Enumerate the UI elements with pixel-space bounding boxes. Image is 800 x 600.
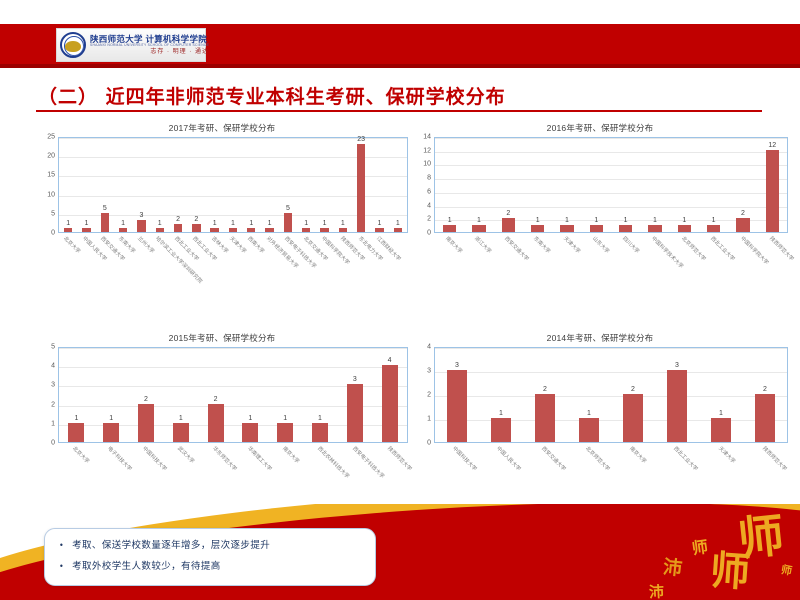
bar-slot: 1 <box>611 138 640 232</box>
x-axis-tick-label: 西北工业大学 <box>709 235 736 262</box>
bar-value-label: 3 <box>655 362 699 369</box>
bar-slot: 3 <box>132 138 150 232</box>
bar-value-label: 5 <box>279 205 297 212</box>
bar <box>667 370 687 442</box>
y-axis-tick: 12 <box>423 147 431 154</box>
bar-series: 31212312 <box>435 348 787 442</box>
bar-slot: 2 <box>169 138 187 232</box>
bar <box>736 218 749 232</box>
y-axis-tick: 10 <box>423 161 431 168</box>
bar <box>502 218 515 232</box>
bar <box>210 228 218 232</box>
bar-slot: 1 <box>699 348 743 442</box>
bar-slot: 23 <box>352 138 370 232</box>
bar-value-label: 23 <box>352 136 370 143</box>
x-axis-tick-label: 西北农林科技大学 <box>316 445 351 480</box>
y-axis-tick: 3 <box>427 368 431 375</box>
chart-2015: 2015年考研、保研学校分布0123451121211134北京大学电子科技大学… <box>36 332 408 532</box>
bar-value-label: 2 <box>743 386 787 393</box>
bar <box>678 225 691 232</box>
bar-value-label: 1 <box>303 415 338 422</box>
x-axis-tick-label: 南京大学 <box>444 235 464 255</box>
bar-slot: 3 <box>337 348 372 442</box>
calligraphy-glyph-4: 沛 <box>662 558 683 579</box>
bar-slot: 1 <box>567 348 611 442</box>
x-axis-labels: 北京大学中国人民大学西安交通大学东南大学兰州大学哈尔滨工业大学深圳研究院西北工业… <box>58 233 408 305</box>
y-axis-tick: 5 <box>51 344 55 351</box>
bar-value-label: 1 <box>114 220 132 227</box>
y-axis: 02468101214 <box>412 137 434 233</box>
slide-title: （二） 近四年非师范专业本科生考研、保研学校分布 <box>38 82 506 109</box>
bar <box>101 213 109 232</box>
bar <box>347 384 363 442</box>
bar-value-label: 3 <box>132 212 150 219</box>
x-axis-tick-label: 北京师范大学 <box>680 235 707 262</box>
bar-value-label: 1 <box>163 415 198 422</box>
bar-slot: 1 <box>242 138 260 232</box>
bar <box>192 224 200 232</box>
x-axis-tick-label: 华南理工大学 <box>246 445 273 472</box>
bar-value-label: 1 <box>699 410 743 417</box>
bar-slot: 5 <box>279 138 297 232</box>
y-axis-tick: 3 <box>51 382 55 389</box>
bar-value-label: 2 <box>611 386 655 393</box>
y-axis-tick: 0 <box>427 440 431 447</box>
bar-value-label: 1 <box>389 220 407 227</box>
x-axis-tick-label: 浙江大学 <box>473 235 493 255</box>
calligraphy-glyph-6: 师 <box>780 564 793 577</box>
bar-value-label: 2 <box>187 216 205 223</box>
bar-slot: 2 <box>129 348 164 442</box>
bar-slot: 1 <box>464 138 493 232</box>
bar <box>711 418 731 442</box>
x-axis-tick-label: 山东大学 <box>591 235 611 255</box>
x-axis-tick-label: 北京师范大学 <box>584 445 611 472</box>
bar-slot: 5 <box>96 138 114 232</box>
bar-slot: 2 <box>187 138 205 232</box>
y-axis-tick: 10 <box>47 191 55 198</box>
bar-slot: 1 <box>670 138 699 232</box>
x-axis-tick-label: 西安交通大学 <box>540 445 567 472</box>
calligraphy-glyph-5: 沛 <box>649 585 665 600</box>
y-axis-tick: 15 <box>47 172 55 179</box>
x-axis-tick-label: 北京大学 <box>71 445 91 465</box>
bar-value-label: 1 <box>552 217 581 224</box>
chart-2016: 2016年考研、保研学校分布024681012141121111111212南京… <box>412 122 788 327</box>
bar-value-label: 1 <box>94 415 129 422</box>
x-axis-tick-label: 西北工业大学 <box>672 445 699 472</box>
bar-value-label: 1 <box>77 220 95 227</box>
x-axis-tick-label: 陕西师范大学 <box>386 445 413 472</box>
x-axis-tick-label: 南京大学 <box>281 445 301 465</box>
charts-grid: 2017年考研、保研学校分布05101520251151312211115111… <box>0 122 800 532</box>
bar-value-label: 1 <box>59 415 94 422</box>
x-axis-labels: 北京大学电子科技大学中国科技大学武汉大学华东师范大学华南理工大学南京大学西北农林… <box>58 443 408 515</box>
bar-value-label: 1 <box>567 410 611 417</box>
bar-value-label: 1 <box>479 410 523 417</box>
bar-slot: 1 <box>163 348 198 442</box>
header-band-shadow <box>0 64 800 68</box>
bar-slot: 1 <box>114 138 132 232</box>
bar-value-label: 2 <box>494 210 523 217</box>
bar <box>766 150 779 232</box>
bar <box>174 224 182 232</box>
x-axis-tick-label: 武汉大学 <box>176 445 196 465</box>
title-underline <box>36 110 762 112</box>
bar-slot: 12 <box>758 138 787 232</box>
chart-title: 2016年考研、保研学校分布 <box>412 122 788 134</box>
x-axis-tick-label: 中国科学院大学 <box>739 235 770 266</box>
bar-value-label: 3 <box>337 376 372 383</box>
bar-value-label: 2 <box>129 396 164 403</box>
bar-slot: 2 <box>523 348 567 442</box>
bar-slot: 1 <box>389 138 407 232</box>
bar-slot: 1 <box>59 348 94 442</box>
bar-series: 1121111111212 <box>435 138 787 232</box>
bar-value-label: 1 <box>611 217 640 224</box>
bar <box>208 404 224 442</box>
bar <box>64 228 72 232</box>
plot-area: 0123431212312 <box>412 347 788 443</box>
bar-slot: 1 <box>552 138 581 232</box>
bar <box>394 228 402 232</box>
bar <box>491 418 511 442</box>
bar-slot: 1 <box>479 348 523 442</box>
bar-slot: 2 <box>198 348 233 442</box>
bar-slot: 1 <box>303 348 338 442</box>
x-axis-tick-label: 天津大学 <box>717 445 737 465</box>
y-axis-tick: 4 <box>427 202 431 209</box>
bar-value-label: 1 <box>464 217 493 224</box>
x-axis-tick-label: 陕西师范大学 <box>761 445 788 472</box>
x-axis-labels: 中国科技大学中国人民大学西安交通大学北京师范大学南京大学西北工业大学天津大学陕西… <box>434 443 788 515</box>
bar <box>443 225 456 232</box>
chart-title: 2017年考研、保研学校分布 <box>36 122 408 134</box>
bar <box>648 225 661 232</box>
bar <box>375 228 383 232</box>
bar-value-label: 1 <box>315 220 333 227</box>
bar <box>247 228 255 232</box>
bar-value-label: 1 <box>582 217 611 224</box>
plot-canvas: 1121211134 <box>58 347 408 443</box>
bar-value-label: 4 <box>372 357 407 364</box>
y-axis: 012345 <box>36 347 58 443</box>
bar <box>103 423 119 442</box>
y-axis: 01234 <box>412 347 434 443</box>
bar-value-label: 1 <box>59 220 77 227</box>
bar <box>173 423 189 442</box>
bar-value-label: 1 <box>297 220 315 227</box>
bar <box>707 225 720 232</box>
bar <box>119 228 127 232</box>
bullet-icon: • <box>59 541 64 550</box>
y-axis-tick: 4 <box>51 363 55 370</box>
callout-item: • 考取、保送学校数量逐年增多，层次逐步提升 <box>59 537 365 551</box>
bar-slot: 4 <box>372 348 407 442</box>
university-seal-icon <box>60 32 86 58</box>
bar-value-label: 1 <box>370 220 388 227</box>
chart-2017: 2017年考研、保研学校分布05101520251151312211115111… <box>36 122 408 327</box>
bar-slot: 1 <box>260 138 278 232</box>
bar-value-label: 1 <box>268 415 303 422</box>
bar-value-label: 2 <box>523 386 567 393</box>
x-axis-tick-label: 陕西师范大学 <box>768 235 795 262</box>
bar-slot: 1 <box>77 138 95 232</box>
y-axis-tick: 25 <box>47 134 55 141</box>
bar-slot: 1 <box>523 138 552 232</box>
bar-slot: 2 <box>743 348 787 442</box>
bar <box>242 423 258 442</box>
bar <box>82 228 90 232</box>
bar-value-label: 1 <box>435 217 464 224</box>
y-axis-tick: 6 <box>427 188 431 195</box>
plot-area: 024681012141121111111212 <box>412 137 788 233</box>
plot-canvas: 31212312 <box>434 347 788 443</box>
plot-canvas: 11513122111151112311 <box>58 137 408 233</box>
x-axis-tick-label: 西安交通大学 <box>503 235 530 262</box>
bar <box>755 394 775 442</box>
bar <box>302 228 310 232</box>
bar <box>579 418 599 442</box>
bar-slot: 2 <box>494 138 523 232</box>
x-axis-tick-label: 中国科技大学 <box>451 445 478 472</box>
bar <box>68 423 84 442</box>
bar <box>560 225 573 232</box>
bar <box>472 225 485 232</box>
bar <box>339 228 347 232</box>
x-axis-tick-label: 东南大学 <box>532 235 552 255</box>
university-logo: 陕西师范大学 计算机科学学院 SHAANXI NORMAL UNIVERSITY… <box>56 28 206 62</box>
bar-value-label: 2 <box>728 210 757 217</box>
calligraphy-glyph-2: 师 <box>709 551 752 594</box>
bar-series: 11513122111151112311 <box>59 138 407 232</box>
bar-slot: 1 <box>582 138 611 232</box>
bar-slot: 1 <box>297 138 315 232</box>
bar-slot: 1 <box>233 348 268 442</box>
x-axis-tick-label: 华东师范大学 <box>211 445 238 472</box>
y-axis-tick: 14 <box>423 134 431 141</box>
bar-value-label: 1 <box>640 217 669 224</box>
summary-callout: • 考取、保送学校数量逐年增多，层次逐步提升 • 考取外校学生人数较少，有待提高 <box>44 528 376 586</box>
bar <box>312 423 328 442</box>
bar-value-label: 1 <box>242 220 260 227</box>
bar-value-label: 12 <box>758 142 787 149</box>
bar <box>137 220 145 232</box>
x-axis-tick-label: 南京大学 <box>628 445 648 465</box>
x-axis-tick-label: 西安电子科技大学 <box>351 445 386 480</box>
y-axis-tick: 0 <box>427 230 431 237</box>
x-axis-tick-label: 四川大学 <box>621 235 641 255</box>
bar-value-label: 2 <box>169 216 187 223</box>
y-axis-tick: 20 <box>47 153 55 160</box>
bar <box>590 225 603 232</box>
bar <box>531 225 544 232</box>
bar <box>229 228 237 232</box>
y-axis-tick: 0 <box>51 440 55 447</box>
y-axis-tick: 5 <box>51 210 55 217</box>
bar-value-label: 1 <box>206 220 224 227</box>
bar-slot: 1 <box>334 138 352 232</box>
bar-value-label: 1 <box>224 220 242 227</box>
y-axis-tick: 2 <box>51 401 55 408</box>
y-axis: 0510152025 <box>36 137 58 233</box>
bar-value-label: 1 <box>260 220 278 227</box>
y-axis-tick: 8 <box>427 175 431 182</box>
bar-slot: 1 <box>94 348 129 442</box>
callout-text: 考取外校学生人数较少，有待提高 <box>72 558 221 572</box>
y-axis-tick: 2 <box>427 392 431 399</box>
bar-slot: 1 <box>206 138 224 232</box>
bar-slot: 2 <box>728 138 757 232</box>
bar-value-label: 2 <box>198 396 233 403</box>
bar-slot: 1 <box>151 138 169 232</box>
bar-series: 1121211134 <box>59 348 407 442</box>
bar <box>535 394 555 442</box>
bar-value-label: 1 <box>334 220 352 227</box>
bar <box>619 225 632 232</box>
bar-value-label: 5 <box>96 205 114 212</box>
bullet-icon: • <box>59 562 64 571</box>
bar <box>320 228 328 232</box>
chart-title: 2015年考研、保研学校分布 <box>36 332 408 344</box>
bar-value-label: 1 <box>699 217 728 224</box>
bar-slot: 1 <box>224 138 242 232</box>
bar-slot: 1 <box>315 138 333 232</box>
x-axis-tick-label: 北京大学 <box>62 235 82 255</box>
calligraphy-glyph-3: 师 <box>691 539 709 557</box>
bar <box>265 228 273 232</box>
bar-value-label: 1 <box>670 217 699 224</box>
x-axis-tick-label: 西南大学 <box>246 235 266 255</box>
bar <box>357 144 365 232</box>
bar <box>138 404 154 442</box>
y-axis-tick: 0 <box>51 230 55 237</box>
bar-slot: 1 <box>435 138 464 232</box>
x-axis-tick-label: 中国科技大学 <box>141 445 168 472</box>
plot-canvas: 1121111111212 <box>434 137 788 233</box>
bar <box>382 365 398 442</box>
bar-value-label: 1 <box>523 217 552 224</box>
bar-slot: 1 <box>699 138 728 232</box>
bar <box>156 228 164 232</box>
x-axis-tick-label: 兰州大学 <box>136 235 156 255</box>
plot-area: 0123451121211134 <box>36 347 408 443</box>
logo-english-name: SHAANXI NORMAL UNIVERSITY SCHOOL OF COMP… <box>90 44 209 47</box>
bar <box>277 423 293 442</box>
chart-title: 2014年考研、保研学校分布 <box>412 332 788 344</box>
y-axis-tick: 4 <box>427 344 431 351</box>
bar <box>623 394 643 442</box>
bar-slot: 3 <box>655 348 699 442</box>
bar-slot: 3 <box>435 348 479 442</box>
callout-text: 考取、保送学校数量逐年增多，层次逐步提升 <box>72 537 270 551</box>
x-axis-labels: 南京大学浙江大学西安交通大学东南大学天津大学山东大学四川大学中国科学技术大学北京… <box>434 233 788 305</box>
callout-item: • 考取外校学生人数较少，有待提高 <box>59 558 365 572</box>
y-axis-tick: 1 <box>51 420 55 427</box>
bar-slot: 1 <box>640 138 669 232</box>
bar <box>447 370 467 442</box>
y-axis-tick: 1 <box>427 416 431 423</box>
y-axis-tick: 2 <box>427 216 431 223</box>
bar-slot: 2 <box>611 348 655 442</box>
bar-value-label: 1 <box>151 220 169 227</box>
x-axis-tick-label: 天津大学 <box>228 235 248 255</box>
bar-slot: 1 <box>370 138 388 232</box>
x-axis-tick-label: 电子科技大学 <box>106 445 133 472</box>
x-axis-tick-label: 对外经济贸易大学 <box>265 235 300 270</box>
plot-area: 051015202511513122111151112311 <box>36 137 408 233</box>
bar-slot: 1 <box>59 138 77 232</box>
bar-value-label: 1 <box>233 415 268 422</box>
x-axis-tick-label: 中国人民大学 <box>495 445 522 472</box>
bar-value-label: 3 <box>435 362 479 369</box>
bar <box>284 213 292 232</box>
bar-slot: 1 <box>268 348 303 442</box>
x-axis-tick-label: 天津大学 <box>562 235 582 255</box>
logo-chinese-name: 陕西师范大学 计算机科学学院 <box>90 35 209 44</box>
logo-motto: 志存 · 明理 · 通达 <box>90 49 209 55</box>
chart-2014: 2014年考研、保研学校分布0123431212312中国科技大学中国人民大学西… <box>412 332 788 532</box>
